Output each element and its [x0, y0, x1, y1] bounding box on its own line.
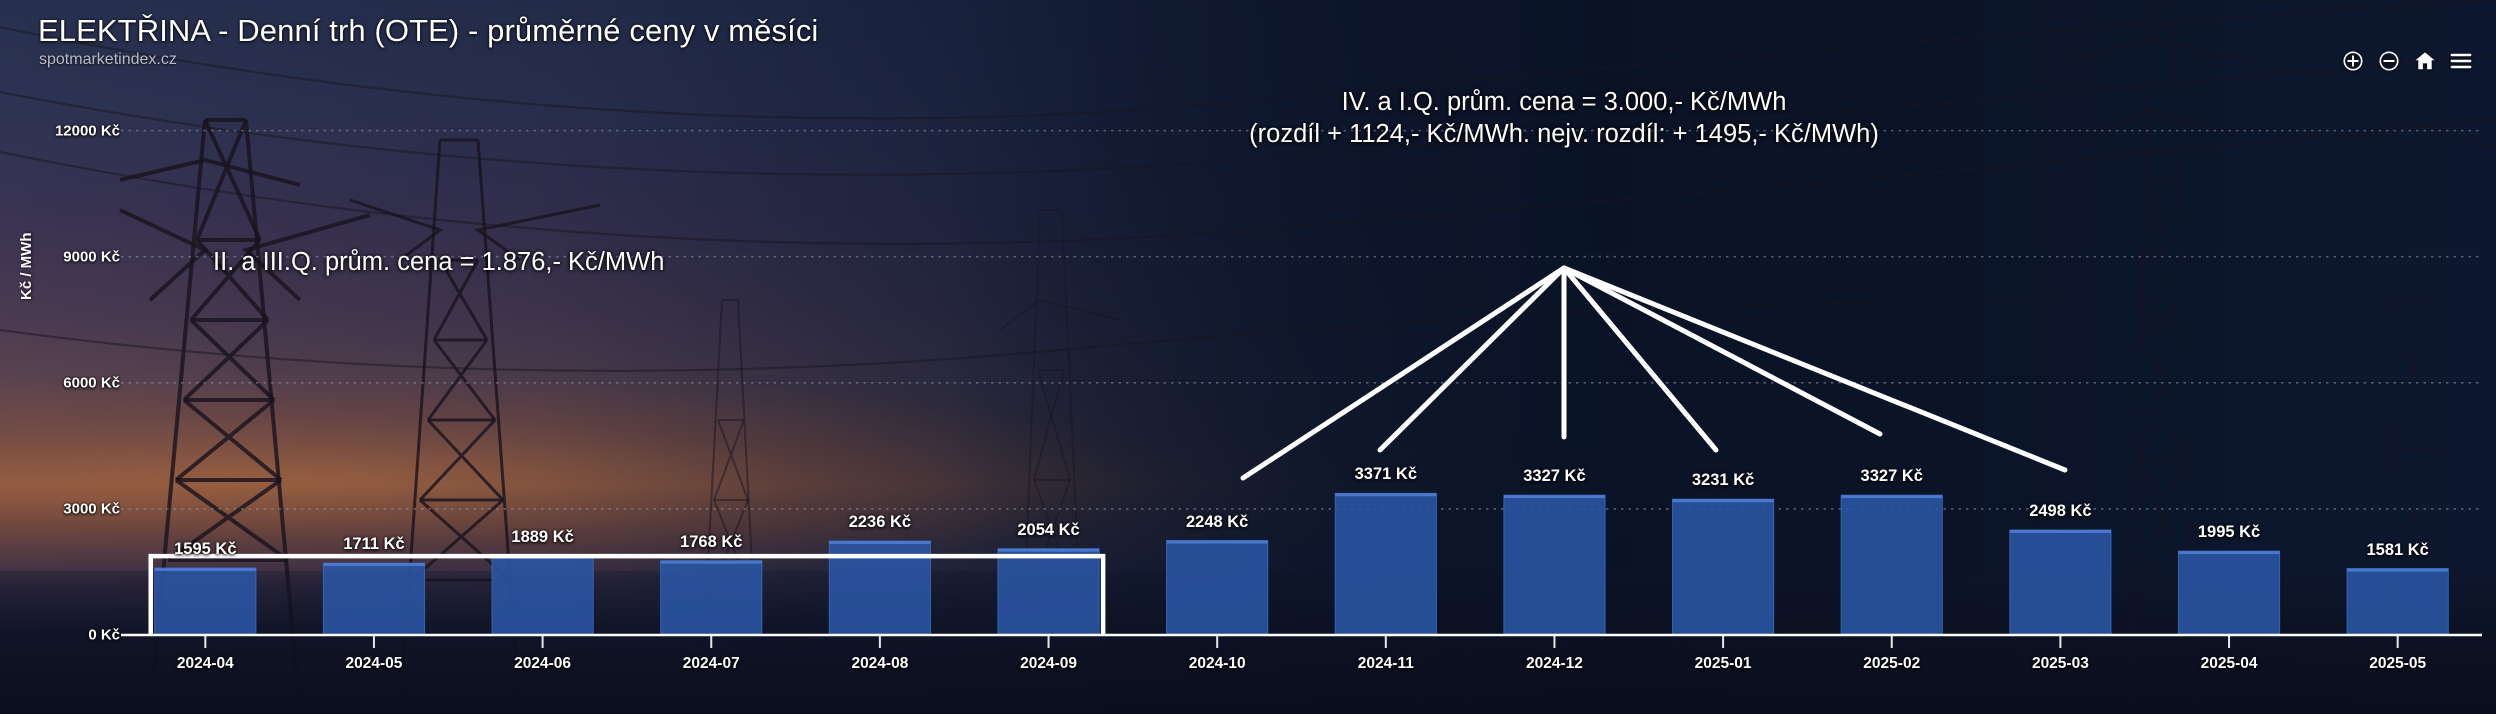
- bar[interactable]: [323, 563, 424, 635]
- bar-value-label: 1711 Kč: [343, 535, 404, 554]
- callout-line: [1380, 268, 1564, 450]
- bar-series: [155, 493, 2449, 635]
- bar-value-label: 1595 Kč: [174, 540, 236, 559]
- bar[interactable]: [2347, 569, 2448, 635]
- bar-value-label: 2236 Kč: [849, 513, 911, 532]
- callout-line: [1564, 268, 2065, 470]
- bar[interactable]: [661, 561, 762, 635]
- bar-cap: [155, 568, 256, 571]
- bar-value-label: 1889 Kč: [511, 528, 573, 547]
- chart-header: ELEKTŘINA - Denní trh (OTE) - průměrné c…: [0, 0, 2496, 96]
- gridlines: [121, 131, 2482, 635]
- bar[interactable]: [492, 556, 593, 635]
- bar[interactable]: [155, 568, 256, 635]
- plot-area: [0, 0, 2496, 714]
- bar-value-label: 3371 Kč: [1355, 465, 1417, 484]
- bar-value-label: 1768 Kč: [680, 533, 742, 552]
- bar[interactable]: [2010, 530, 2111, 635]
- bar-cap: [323, 563, 424, 566]
- callout-line: [1243, 268, 1564, 478]
- bar[interactable]: [1504, 495, 1605, 635]
- bar-value-label: 1995 Kč: [2198, 523, 2260, 542]
- annotation-q4-q1-line2: (rozdíl + 1124,- Kč/MWh. nejv. rozdíl: +…: [1249, 119, 1879, 151]
- bar-cap: [2347, 569, 2448, 572]
- source-credit: spotmarketindex.cz: [39, 51, 177, 69]
- bar-value-label: 1581 Kč: [2366, 541, 2428, 560]
- zoom-in-icon[interactable]: [2342, 50, 2364, 72]
- bar-value-label: 2054 Kč: [1017, 521, 1079, 540]
- bar-cap: [2010, 530, 2111, 533]
- bar-value-label: 2498 Kč: [2029, 502, 2091, 521]
- group-highlight-box: [151, 556, 1103, 635]
- q2-q3-highlight-outline: [151, 556, 1103, 635]
- callout-fan-lines: [1243, 268, 2065, 478]
- bar-cap: [1167, 541, 1268, 544]
- zoom-out-icon[interactable]: [2378, 50, 2400, 72]
- bar-cap: [661, 561, 762, 564]
- x-axis-tick-marks: [205, 635, 2397, 648]
- bar-value-label: 3327 Kč: [1861, 467, 1923, 486]
- bar-cap: [1335, 493, 1436, 496]
- callout-line: [1564, 268, 1716, 450]
- callout-line: [1564, 268, 1880, 434]
- bar[interactable]: [1673, 499, 1774, 635]
- home-icon[interactable]: [2414, 50, 2436, 72]
- page-title: ELEKTŘINA - Denní trh (OTE) - průměrné c…: [38, 13, 818, 49]
- chart-screenshot: ELEKTŘINA - Denní trh (OTE) - průměrné c…: [0, 0, 2496, 714]
- bar[interactable]: [998, 549, 1099, 635]
- annotation-q2-q3-average: II. a III.Q. prům. cena = 1.876,- Kč/MWh: [213, 248, 664, 277]
- bar-cap: [2178, 551, 2279, 554]
- bar-value-label: 2248 Kč: [1186, 513, 1248, 532]
- bar-cap: [1504, 495, 1605, 498]
- bar-cap: [829, 541, 930, 544]
- bar[interactable]: [1167, 541, 1268, 635]
- bar-cap: [998, 549, 1099, 552]
- bar-value-label: 3327 Kč: [1523, 467, 1585, 486]
- plot-svg: [0, 0, 2496, 714]
- bar[interactable]: [2178, 551, 2279, 635]
- bar-cap: [1841, 495, 1942, 498]
- bar[interactable]: [1335, 493, 1436, 635]
- bar[interactable]: [1841, 495, 1942, 635]
- chart-toolbar: [2342, 50, 2472, 72]
- menu-icon[interactable]: [2450, 50, 2472, 72]
- bar-value-label: 3231 Kč: [1692, 471, 1754, 490]
- bar-cap: [1673, 499, 1774, 502]
- annotation-q4-q1-average: IV. a I.Q. prům. cena = 3.000,- Kč/MWh (…: [1249, 87, 1879, 151]
